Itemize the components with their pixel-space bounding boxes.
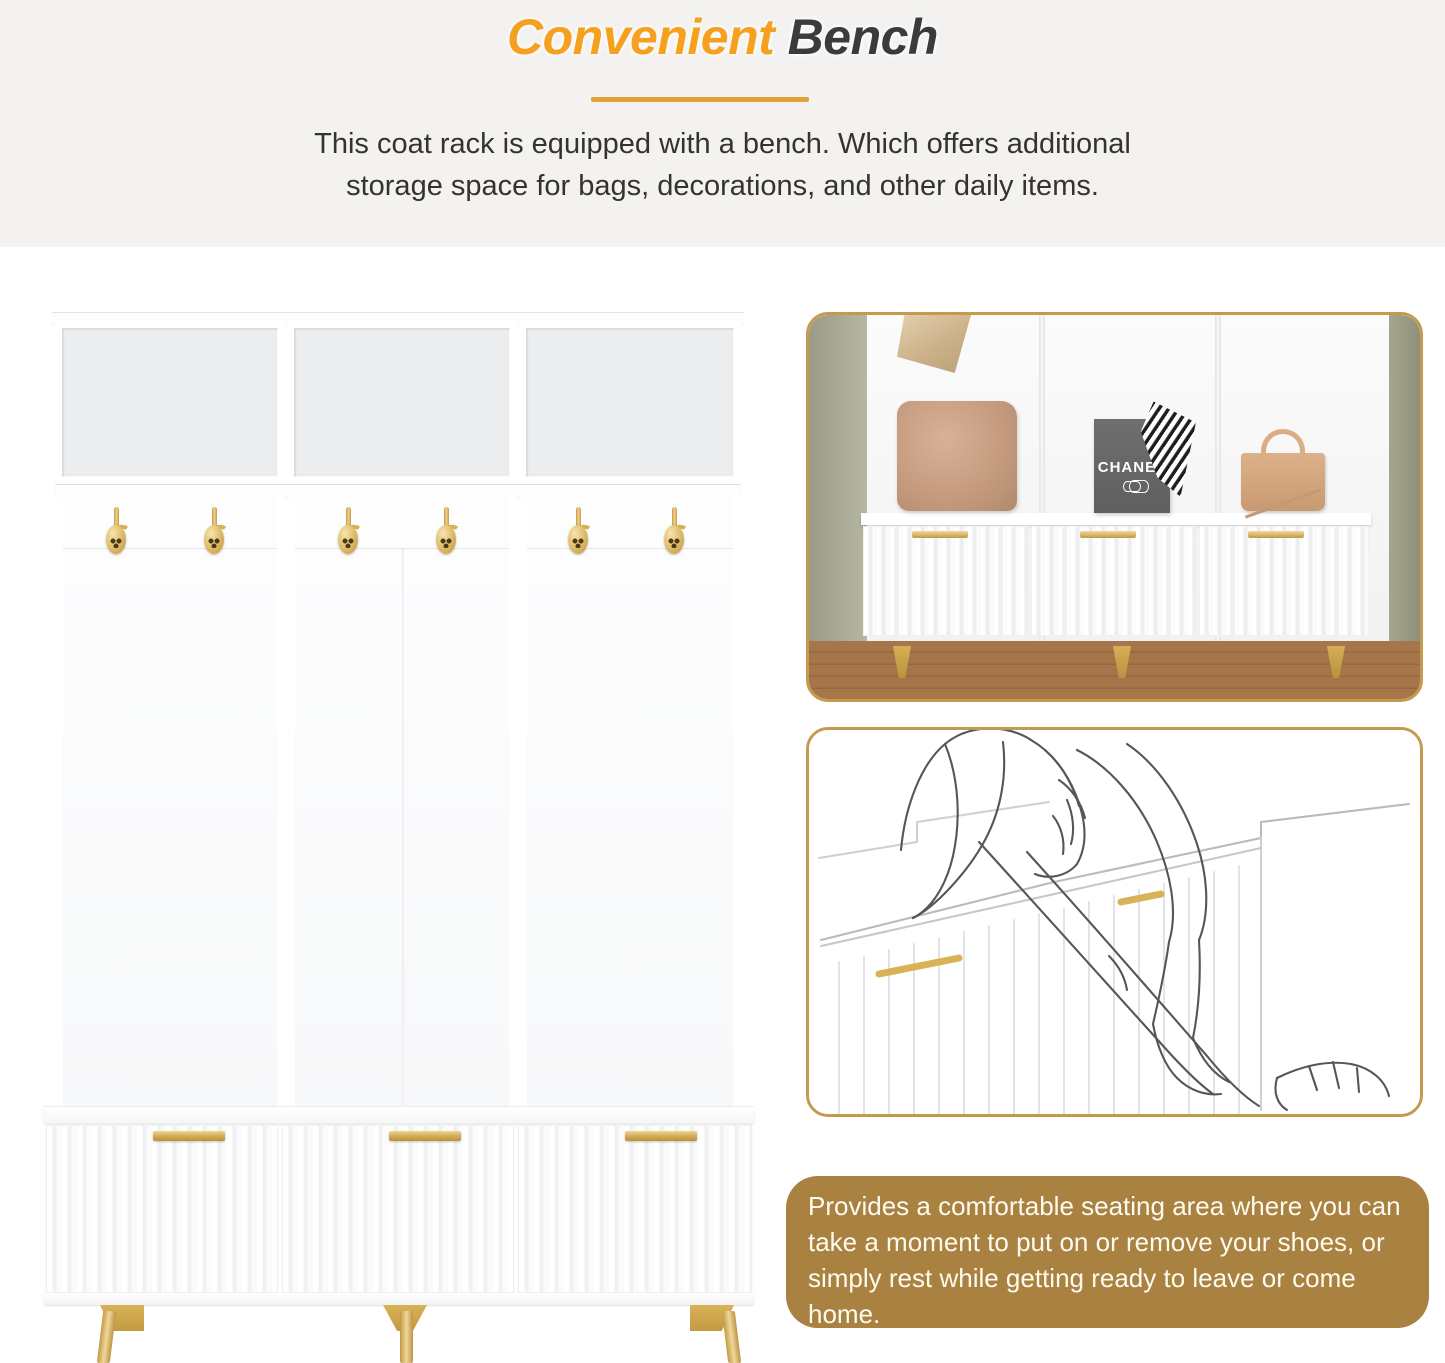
gold-leg-right bbox=[690, 1305, 738, 1363]
hanging-bay-right bbox=[519, 497, 741, 1112]
callout-text: Provides a comfortable seating area wher… bbox=[808, 1188, 1411, 1332]
open-cubby-right bbox=[519, 321, 741, 484]
gold-bar-handle-icon bbox=[912, 531, 968, 538]
tan-handbag bbox=[1241, 427, 1325, 511]
gold-bar-handle-icon bbox=[625, 1131, 697, 1141]
title-highlight: Convenient bbox=[507, 9, 774, 65]
photo-door-left bbox=[863, 526, 1029, 636]
top-shelf-row bbox=[55, 321, 741, 484]
gold-bar-handle-icon bbox=[389, 1131, 461, 1141]
coat-hook-icon bbox=[663, 507, 685, 555]
gold-bar-handle-icon bbox=[153, 1131, 225, 1141]
title-rest: Bench bbox=[774, 9, 938, 65]
title-underline-rule bbox=[591, 97, 809, 102]
gold-leg-left bbox=[100, 1305, 148, 1363]
product-image-hall-tree bbox=[38, 300, 768, 1363]
open-cubby-left bbox=[55, 321, 285, 484]
open-cubby-center bbox=[287, 321, 517, 484]
wall-left bbox=[809, 315, 869, 645]
photo-bench-cabinet bbox=[861, 513, 1371, 648]
photo-scene: CHANEL bbox=[809, 315, 1420, 699]
photo-door-right bbox=[1199, 526, 1369, 636]
sketch-scene bbox=[809, 730, 1420, 1114]
header-band: Convenient Bench This coat rack is equip… bbox=[0, 0, 1445, 247]
line-art-svg bbox=[809, 730, 1420, 1114]
coat-hook-icon bbox=[203, 507, 225, 555]
hanging-bay-left bbox=[55, 497, 285, 1112]
bench-bottom-rail bbox=[44, 1293, 754, 1305]
coat-hook-icon bbox=[337, 507, 359, 555]
hook-mounting-rail bbox=[295, 497, 509, 549]
photo-door-center bbox=[1031, 526, 1197, 636]
hook-mounting-rail bbox=[63, 497, 277, 549]
gold-leg-center bbox=[383, 1305, 431, 1363]
entryway-lifestyle-photo: CHANEL bbox=[806, 312, 1423, 702]
bay-back-panel bbox=[63, 549, 277, 1112]
coat-hook-icon bbox=[435, 507, 457, 555]
callout-box: Provides a comfortable seating area wher… bbox=[786, 1176, 1429, 1328]
hanging-bay-center bbox=[287, 497, 517, 1112]
fluted-door-center bbox=[282, 1125, 514, 1293]
shelf-divider-board bbox=[55, 484, 741, 497]
subtitle-line-1: This coat rack is equipped with a bench.… bbox=[0, 123, 1445, 165]
hook-mounting-rail bbox=[527, 497, 733, 549]
handbag-handle bbox=[1261, 429, 1305, 461]
coat-hook-icon bbox=[105, 507, 127, 555]
photo-bench-top bbox=[861, 513, 1371, 525]
gold-bar-handle-icon bbox=[1248, 531, 1304, 538]
gold-bar-handle-icon bbox=[1080, 531, 1136, 538]
fluted-door-right bbox=[518, 1125, 752, 1293]
subtitle-line-2: storage space for bags, decorations, and… bbox=[0, 165, 1445, 207]
seated-person-line-illustration bbox=[806, 727, 1423, 1117]
bench-seat-top bbox=[44, 1106, 754, 1123]
chanel-logo-icon bbox=[1123, 481, 1141, 492]
hanging-bay-row bbox=[55, 497, 741, 1112]
page-title: Convenient Bench bbox=[0, 8, 1445, 66]
page-subtitle: This coat rack is equipped with a bench.… bbox=[0, 123, 1445, 207]
fluted-door-left bbox=[46, 1125, 278, 1293]
coat-hook-icon bbox=[567, 507, 589, 555]
bench-cabinet-base bbox=[44, 1106, 754, 1306]
bay-panel-seam bbox=[402, 549, 404, 1112]
bay-back-panel bbox=[527, 549, 733, 1112]
throw-pillow bbox=[897, 401, 1017, 511]
